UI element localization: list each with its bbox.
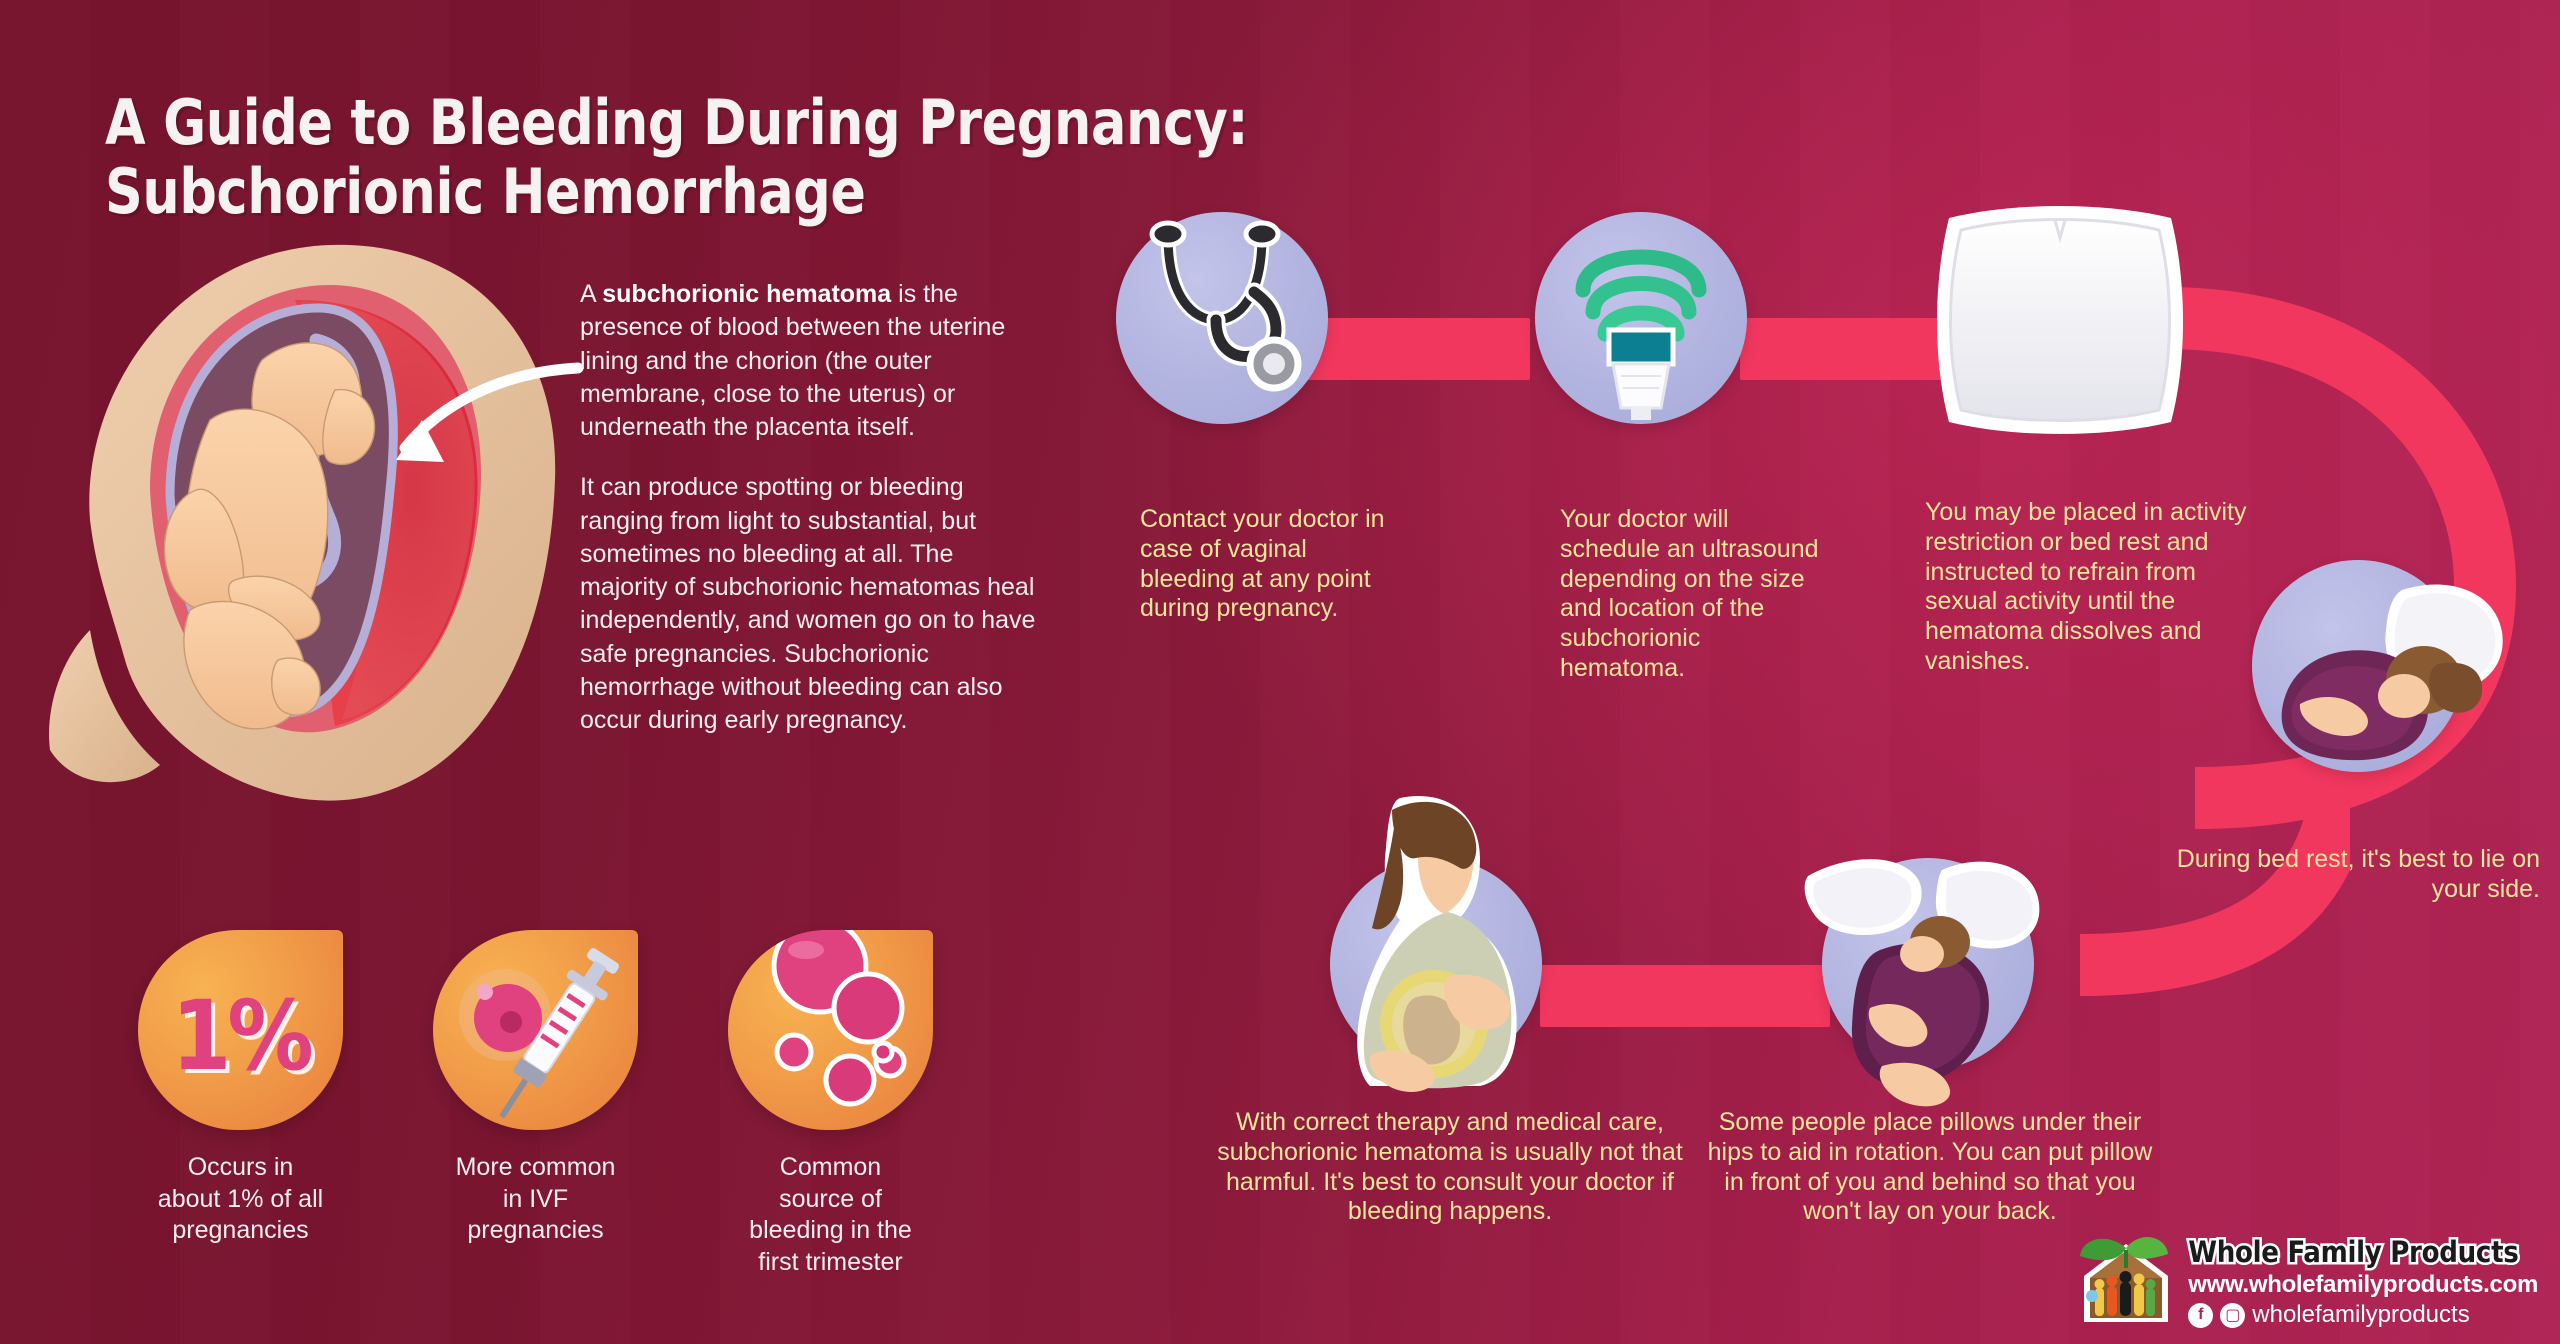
title-line-1: A Guide to Bleeding During Pregnancy: [105,86,1248,159]
intro-p1-bold-term: subchorionic hematoma [602,280,891,308]
brand-logo[interactable]: Whole Family Products www.wholefamilypro… [2078,1234,2538,1330]
woman-lying-on-side-icon [2212,525,2512,815]
flow-step-4-bubble[interactable] [2252,560,2464,772]
flow-step-6-text: With correct therapy and medical care, s… [1215,1108,1685,1227]
flow-step-2-text: Your doctor will schedule an ultrasound … [1560,505,1820,684]
intro-copy: A subchorionic hematoma is the presence … [580,278,1040,764]
pillow-icon [1895,162,2225,472]
social-handle: wholefamilyproducts [2252,1301,2469,1329]
logo-social-line: f ▢ wholefamilyproducts [2188,1301,2538,1329]
flow-step-1-text: Contact your doctor in case of vaginal b… [1140,505,1390,624]
fetus-in-uterus-illustration [30,190,590,830]
woman-with-pillows-icon [1787,813,2077,1113]
facebook-icon[interactable]: f [2188,1303,2213,1328]
whole-family-products-logo-icon [2078,1234,2174,1330]
logo-website-url[interactable]: www.wholefamilyproducts.com [2188,1271,2538,1299]
logo-brand-name: Whole Family Products [2188,1235,2538,1269]
stethoscope-icon [1116,212,1328,424]
syringe-ivf-svg [433,930,638,1130]
infographic-canvas: A Guide to Bleeding During Pregnancy: Su… [0,0,2560,1344]
stat-caption-2: More common in IVF pregnancies [433,1152,638,1247]
intro-p1-lead: A [580,280,602,308]
flow-step-3-bubble[interactable] [1955,212,2167,424]
instagram-icon[interactable]: ▢ [2220,1303,2245,1328]
stat-caption-1: Occurs in about 1% of all pregnancies [138,1152,343,1247]
flow-step-3-text: You may be placed in activity restrictio… [1925,498,2255,677]
blood-cells-icon [728,930,933,1130]
ultrasound-probe-icon [1535,212,1747,424]
logo-text-block: Whole Family Products www.wholefamilypro… [2188,1235,2538,1329]
flow-step-4-text: During bed rest, it's best to lie on you… [2150,845,2540,905]
stat-badge-3: Common source of bleeding in the first t… [728,930,933,1278]
flow-step-5-text: Some people place pillows under their hi… [1700,1108,2160,1227]
flow-step-5-bubble[interactable] [1822,858,2034,1070]
pregnant-woman-icon [1280,788,1600,1098]
percent-badge-icon: 1% [138,930,343,1130]
stat-value-1: 1% [138,980,343,1092]
intro-paragraph-2: It can produce spotting or bleeding rang… [580,471,1040,737]
stat-badge-2: More common in IVF pregnancies [433,930,638,1247]
syringe-ivf-icon [433,930,638,1130]
stat-caption-3: Common source of bleeding in the first t… [728,1152,933,1278]
stat-badge-1: 1% Occurs in about 1% of all pregnancies [138,930,343,1247]
blood-cells-svg [728,930,933,1130]
flow-connector-1 [1300,318,1530,380]
flow-step-1-bubble[interactable] [1116,212,1328,424]
flow-step-6-bubble[interactable] [1330,858,1542,1070]
intro-paragraph-1: A subchorionic hematoma is the presence … [580,278,1040,444]
flow-step-2-bubble[interactable] [1535,212,1747,424]
